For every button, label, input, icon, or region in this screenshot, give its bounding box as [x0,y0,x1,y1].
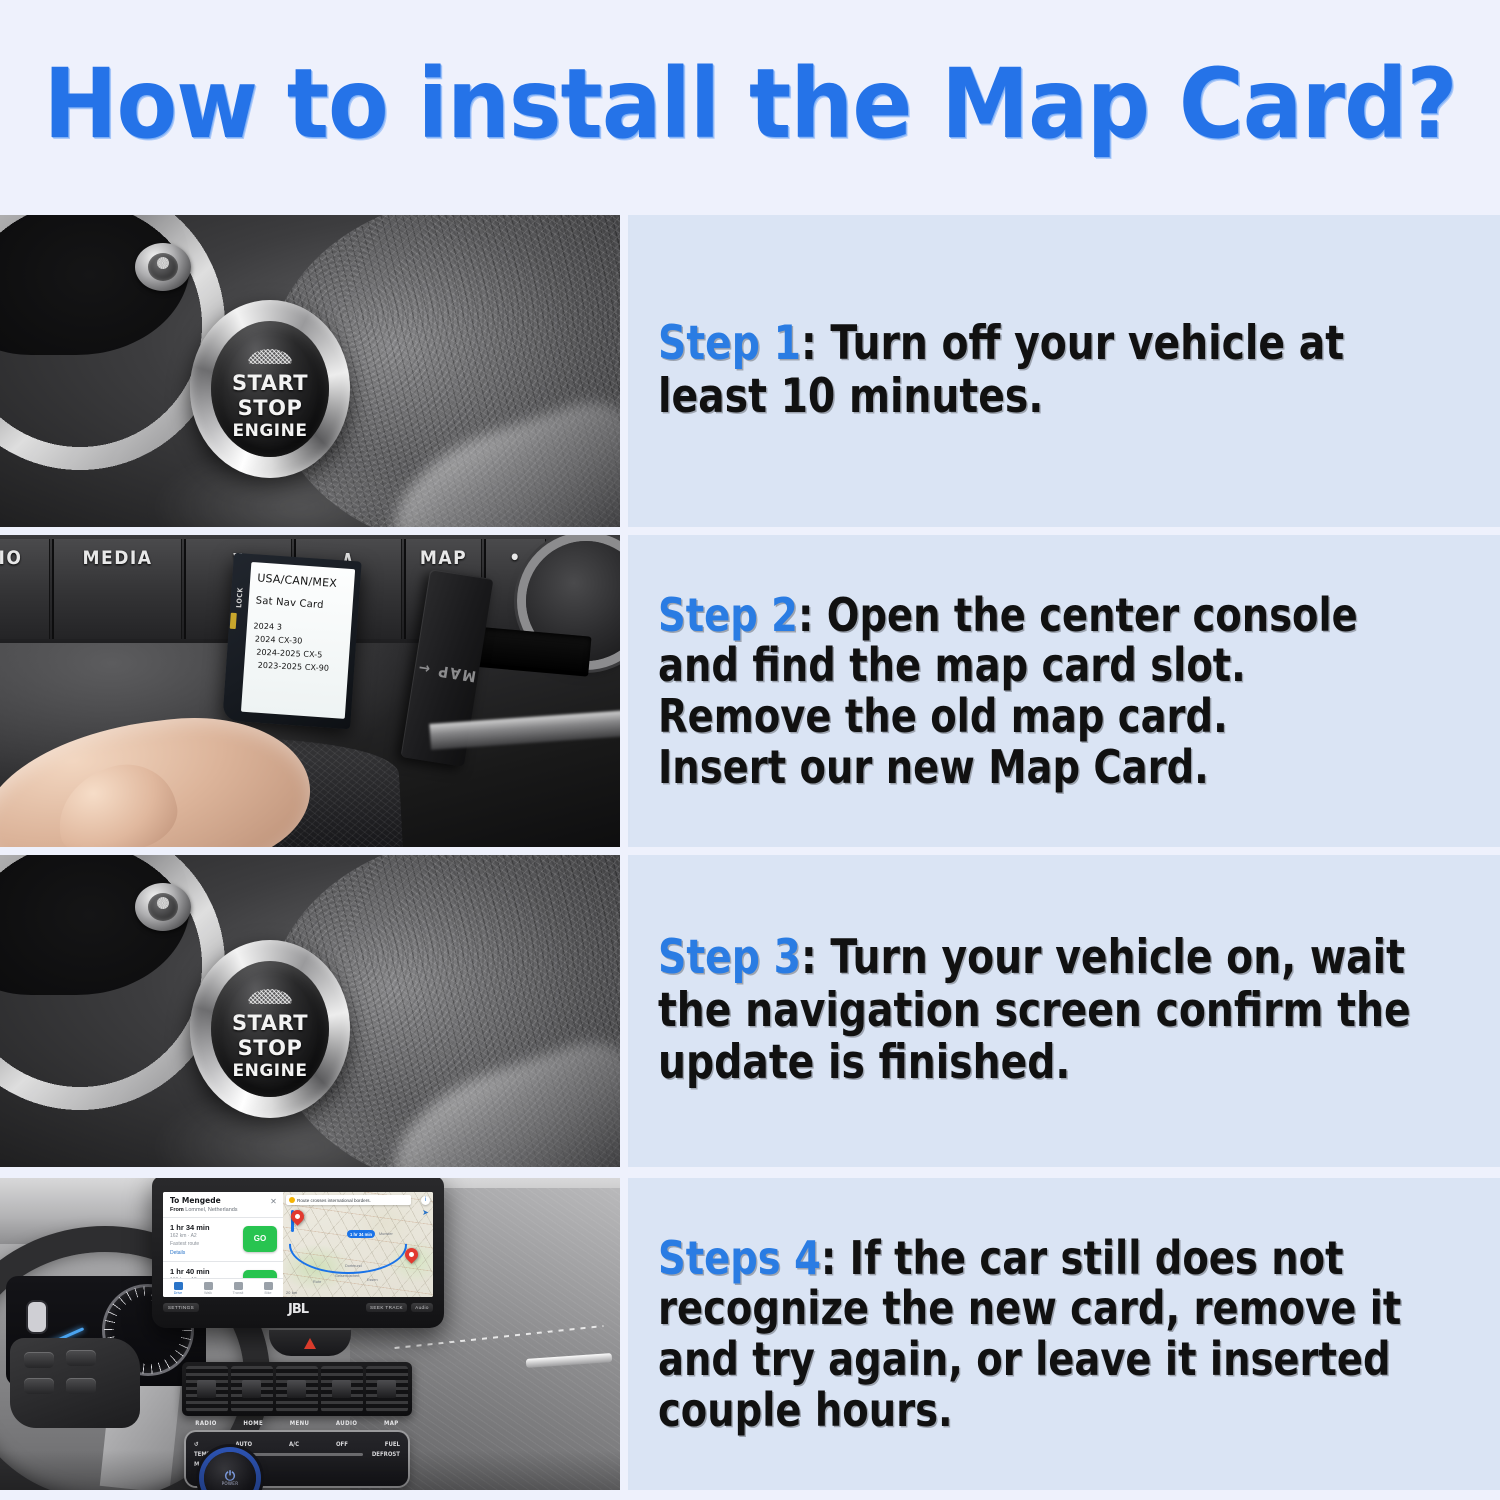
bottom-shadow [0,1450,620,1490]
nav-route-option-1[interactable]: 1 hr 34 min 162 km · A2 Fastest route De… [163,1218,283,1261]
map-label: Munster [379,1232,393,1236]
map-label: Ruhr [313,1280,321,1284]
sd-card-lock-switch[interactable] [230,613,237,629]
hazard-knob-icon [135,883,191,931]
step-sep-2: : [798,588,827,642]
chrome-accent [526,1353,612,1368]
step-row-1: START STOP ENGINE Step 1: Turn off your … [0,215,1500,527]
map-slot-cover-label: MAP ← [415,658,477,685]
step-label-2: Step 2 [658,588,798,642]
warning-icon [289,1197,295,1203]
nav-header: To Mengede From Lommel, Netherlands ✕ [163,1192,283,1216]
center-console-scene: IO MEDIA ∨ ∧ MAP • MAP ← LOCK [0,535,620,847]
wheel-button-right-down[interactable] [66,1378,96,1394]
photo-engine-start-button-2: START STOP ENGINE [0,855,620,1167]
sd-card-type: Sat Nav Card [255,595,347,612]
jbl-brand-badge: JBL [288,1302,308,1317]
info-icon[interactable]: i [421,1196,430,1205]
nav-map-view[interactable]: Route crosses international borders. 1 h… [283,1192,433,1297]
route-eta-chip: 1 hr 34 min [347,1230,375,1238]
console-button-radio[interactable]: IO [0,539,50,639]
step-label-3: Step 3 [658,930,801,985]
button-face: START STOP ENGINE [211,961,329,1097]
sd-card-label: USA/CAN/MEX Sat Nav Card 2024 3 2024 CX-… [241,562,355,719]
vehicle-icon [28,1302,46,1332]
step-sep-3: : [801,930,830,985]
console-label-menu[interactable]: MENU [290,1420,310,1427]
transit-icon [234,1282,243,1290]
nav-tab-label: Transit [233,1291,244,1295]
button-label-line3: ENGINE [232,1061,308,1081]
step-text-panel-1: Step 1: Turn off your vehicle at least 1… [628,215,1500,527]
bike-icon [264,1282,273,1290]
wheel-button-right-up[interactable] [66,1350,96,1366]
button-label-line2: STOP [232,396,308,421]
wheel-button-left-up[interactable] [24,1352,54,1368]
highlight-glow [150,1087,450,1167]
hazard-triangle-icon [304,1338,316,1349]
highlight-glow [150,447,450,527]
console-source-labels: RADIO HOME MENU AUDIO MAP [182,1420,412,1427]
photo-dashboard-navigation: P 100 km/h 180 [0,1178,620,1490]
photo-engine-start-button-1: START STOP ENGINE [0,215,620,527]
walk-icon [204,1282,213,1290]
dashboard-scene: START STOP ENGINE [0,215,620,527]
compass-icon[interactable]: ➤ [421,1208,430,1217]
sd-card-region: USA/CAN/MEX [257,571,349,590]
car-icon [174,1282,183,1290]
head-unit-settings-button[interactable]: SETTINGS [163,1303,199,1312]
hvac-off-button[interactable]: OFF [336,1441,348,1448]
head-unit-seek-button[interactable]: SEEK TRACK [366,1303,407,1312]
button-label-line1: START [232,371,308,396]
dashboard-scene: START STOP ENGINE [0,855,620,1167]
close-icon[interactable]: ✕ [269,1197,278,1206]
photo-map-card-slot: IO MEDIA ∨ ∧ MAP • MAP ← LOCK [0,535,620,847]
console-label-home[interactable]: HOME [243,1420,263,1427]
nav-route-panel: To Mengede From Lommel, Netherlands ✕ 1 … [163,1192,283,1297]
step-label-1: Step 1 [658,316,801,371]
step-row-4: P 100 km/h 180 [0,1178,1500,1490]
vent-slat [276,1366,318,1412]
hvac-fuel-label: FUEL [385,1441,400,1448]
step-text-1: Step 1: Turn off your vehicle at least 1… [658,318,1421,423]
nav-origin: From Lommel, Netherlands [170,1207,277,1213]
console-label-map[interactable]: MAP [384,1420,399,1427]
step-text-panel-4: Steps 4: If the car still does not recog… [628,1178,1500,1490]
nav-border-warning-banner: Route crosses international borders. [286,1195,411,1205]
nav-destination: To Mengede [170,1197,277,1205]
infographic-page: How to install the Map Card? START STOP … [0,0,1500,1500]
step-text-3: Step 3: Turn your vehicle on, wait the n… [658,932,1421,1090]
nav-banner-text: Route crosses international borders. [297,1198,371,1203]
hvac-ac-button[interactable]: A/C [289,1441,299,1448]
step-sep-4: : [821,1231,850,1285]
button-face: START STOP ENGINE [211,321,329,457]
step-text-panel-3: Step 3: Turn your vehicle on, wait the n… [628,855,1500,1167]
steering-wheel-hub [10,1338,140,1428]
step-row-3: START STOP ENGINE Step 3: Turn your vehi… [0,855,1500,1167]
console-label-audio[interactable]: AUDIO [336,1420,357,1427]
button-label: START STOP ENGINE [232,371,308,441]
hazard-knob-icon [135,243,191,291]
hvac-row-1: ↺ AUTO A/C OFF FUEL [194,1441,400,1448]
nav-origin-value: Lommel, Netherlands [185,1207,237,1213]
page-title-wrap: How to install the Map Card? [0,0,1500,207]
head-unit-audio-button[interactable]: Audio [411,1303,433,1312]
button-label-line1: START [232,1011,308,1036]
button-mesh-icon [248,989,292,1004]
nav-tab-label: Drive [174,1291,182,1295]
head-unit: To Mengede From Lommel, Netherlands ✕ 1 … [152,1178,444,1328]
hazard-light-button[interactable] [269,1330,351,1356]
nav-tab-label: Walk [204,1291,212,1295]
step-text-2: Step 2: Open the center console and find… [658,590,1421,792]
step-row-2: IO MEDIA ∨ ∧ MAP • MAP ← LOCK [0,535,1500,847]
vent-slat [186,1366,228,1412]
sd-card-model-list: 2024 3 2024 CX-30 2024-2025 CX-5 2023-20… [251,620,344,676]
nav-origin-prefix: From [170,1207,185,1213]
step-text-4: Steps 4: If the car still does not recog… [658,1233,1421,1435]
hvac-recirculate-icon[interactable]: ↺ [194,1441,199,1448]
route-polyline [289,1216,407,1274]
nav-tab-label: Bike [265,1291,272,1295]
step-label-4: Steps 4 [658,1231,821,1285]
vent-slat [321,1366,363,1412]
button-label: START STOP ENGINE [232,1011,308,1081]
sd-card-lock-label: LOCK [235,587,244,608]
console-label-radio[interactable]: RADIO [195,1420,216,1427]
step-sep-1: : [801,316,830,371]
nav-go-button-1[interactable]: GO [243,1226,277,1252]
vent-slat [366,1366,408,1412]
hvac-auto-button[interactable]: AUTO [235,1441,252,1448]
map-scale-label: 20 km [286,1291,297,1295]
button-mesh-icon [248,349,292,364]
sd-card-model: 2023-2025 CX-90 [257,660,342,677]
center-air-vents[interactable] [182,1362,412,1416]
vent-slat [231,1366,273,1412]
dashboard-scene-full: P 100 km/h 180 [0,1178,620,1490]
step-text-panel-2: Step 2: Open the center console and find… [628,535,1500,847]
stitching-line [394,1325,603,1349]
page-title: How to install the Map Card? [43,56,1456,152]
button-label-line2: STOP [232,1036,308,1061]
button-label-line3: ENGINE [232,421,308,441]
console-button-media[interactable]: MEDIA [52,539,182,639]
sd-map-card[interactable]: LOCK USA/CAN/MEX Sat Nav Card 2024 3 202… [222,553,361,730]
navigation-screen[interactable]: To Mengede From Lommel, Netherlands ✕ 1 … [163,1192,433,1297]
map-label: Essen [367,1278,378,1282]
map-label: Gelsenkirchen [335,1274,359,1278]
wheel-button-left-down[interactable] [24,1378,54,1394]
